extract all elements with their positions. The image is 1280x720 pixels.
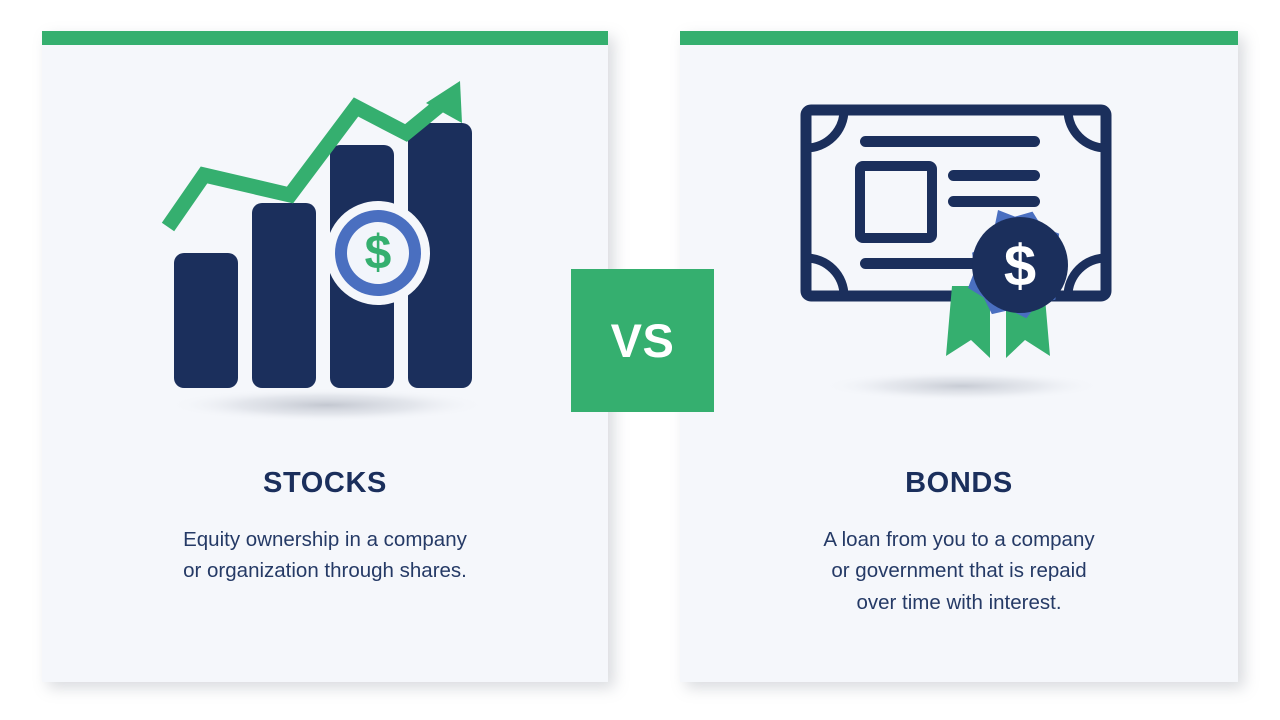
bar-1 (174, 253, 238, 388)
comparison-card-bonds: $ BONDS A loan from you to a company or … (680, 31, 1238, 682)
ground-shadow (167, 388, 487, 422)
cert-line-signature (860, 258, 990, 269)
card-title-stocks: STOCKS (263, 467, 387, 500)
card-description-stocks: Equity ownership in a company or organiz… (183, 524, 467, 587)
stocks-illustration: $ (42, 45, 608, 465)
card-body-bonds: $ BONDS A loan from you to a company or … (680, 45, 1238, 682)
cert-line-1 (948, 170, 1040, 181)
ground-shadow (822, 371, 1102, 401)
dollar-sign-glyph: $ (1004, 234, 1036, 299)
card-title-bonds: BONDS (905, 467, 1013, 500)
certificate-award-seal-dollar-icon: $ (794, 90, 1124, 420)
bar-2 (252, 203, 316, 388)
versus-badge: VS (571, 269, 714, 412)
card-body-stocks: $ STOCKS Equity ownership in a company o… (42, 45, 608, 682)
comparison-card-stocks: $ STOCKS Equity ownership in a company o… (42, 31, 608, 682)
bar-chart-growth-dollar-coin-icon: $ (160, 75, 490, 435)
cert-line-title (860, 136, 1040, 147)
card-description-bonds: A loan from you to a company or governme… (823, 524, 1094, 618)
versus-label: VS (611, 317, 675, 364)
dollar-coin-badge: $ (326, 201, 430, 305)
cert-line-2 (948, 196, 1040, 207)
infographic-stage: $ STOCKS Equity ownership in a company o… (0, 0, 1280, 720)
card-accent-bar-bonds (680, 31, 1238, 45)
card-accent-bar-stocks (42, 31, 608, 45)
bonds-illustration: $ (680, 45, 1238, 465)
dollar-sign-glyph: $ (365, 227, 392, 280)
